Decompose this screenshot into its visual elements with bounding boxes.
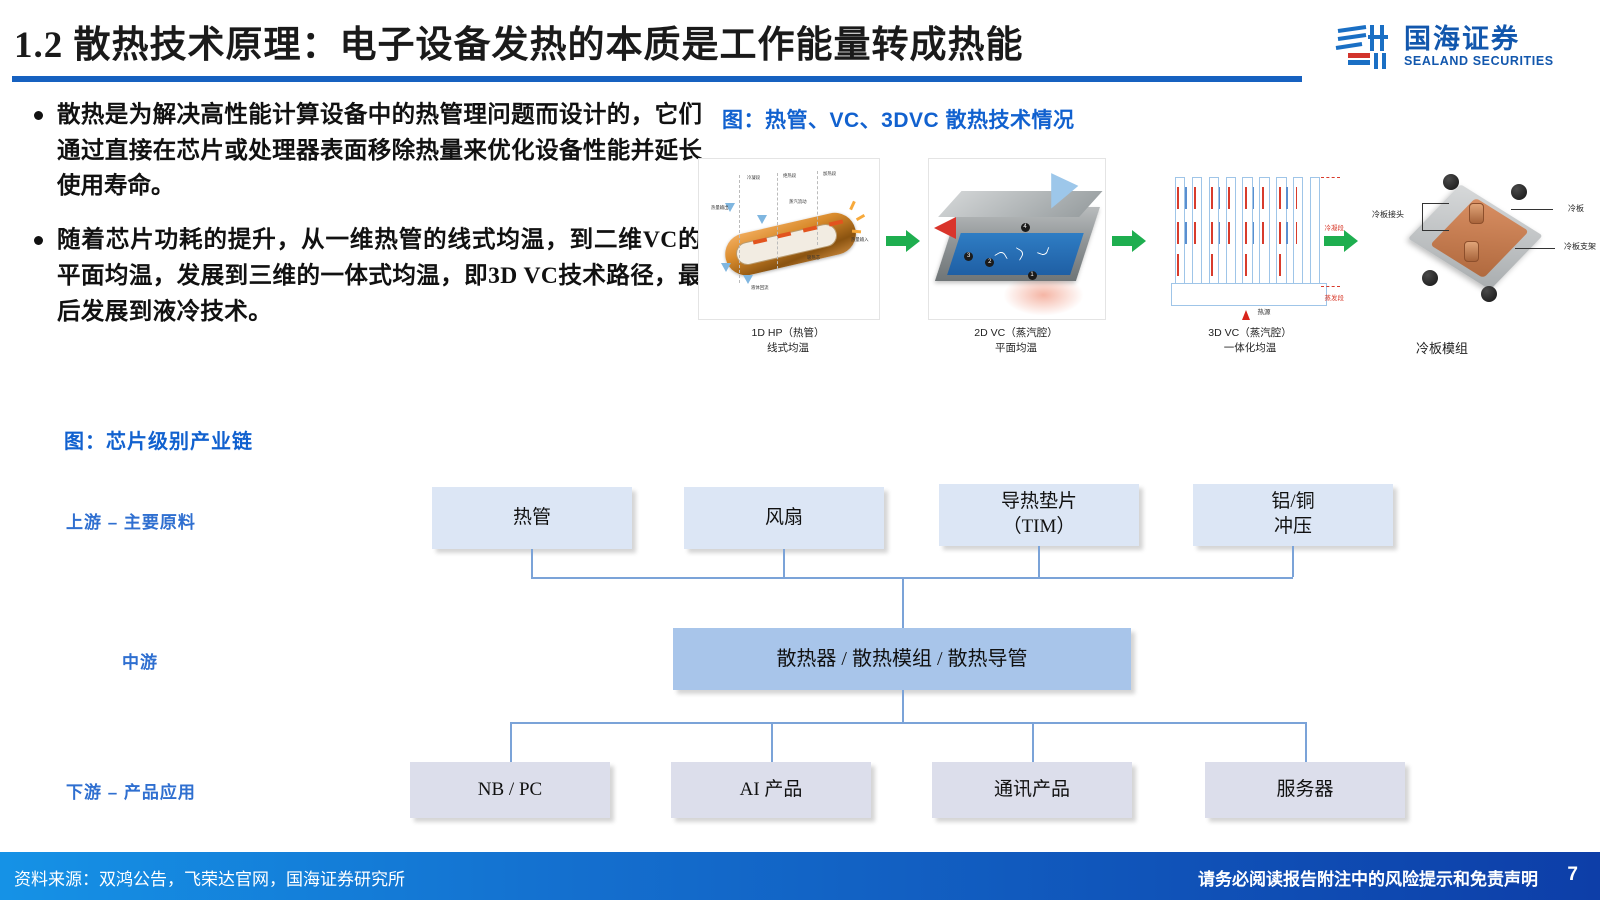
panel4-label: 冷板接头 xyxy=(1372,209,1404,220)
figure-panel-1-caption: 1D HP（热管） 线式均温 xyxy=(688,326,888,356)
node-label: 通讯产品 xyxy=(994,779,1070,800)
chain-node-upstream-fan[interactable]: 风扇 xyxy=(684,487,884,549)
condensate-down-arrow xyxy=(1219,187,1221,209)
vapor-up-arrow xyxy=(1262,222,1264,244)
vapor-up-arrow xyxy=(1177,187,1179,209)
connector-downstream-4 xyxy=(1305,722,1307,762)
node-sublabel: （TIM） xyxy=(1001,515,1077,540)
condensate-down-arrow xyxy=(1253,222,1255,244)
connector-downstream-2 xyxy=(771,722,773,762)
node-label: 服务器 xyxy=(1276,779,1333,800)
vc-evaporator-base xyxy=(1171,283,1327,306)
chain-diagram-title: 图：芯片级别产业链 xyxy=(64,425,253,454)
section-divider xyxy=(777,173,778,269)
condensate-down-arrow xyxy=(1286,187,1288,209)
panel3-label: 热源 xyxy=(1258,306,1271,316)
vapor-up-arrow xyxy=(1228,187,1230,209)
sealand-logo-icon xyxy=(1332,21,1394,73)
vapor-up-arrow xyxy=(1194,222,1196,244)
condenser-dash xyxy=(1321,177,1340,178)
vapor-up-arrow xyxy=(1296,222,1298,244)
condensate-down-arrow xyxy=(1185,187,1187,209)
vapor-up-arrow xyxy=(1245,254,1247,276)
caption-line: 3D VC（蒸汽腔） xyxy=(1150,326,1350,341)
condensate-down-arrow xyxy=(1219,222,1221,244)
connector-upstream-1 xyxy=(531,549,533,577)
title-underline xyxy=(12,76,1302,82)
mount-screw xyxy=(1511,184,1527,200)
vapor-up-arrow xyxy=(1211,222,1213,244)
caption-line: 2D VC（蒸汽腔） xyxy=(916,326,1116,341)
thermal-tech-figure: 冷凝段 绝热段 加热段 蒸汽流动 热量输出 热量输入 吸热芯 液体回流 1D H… xyxy=(690,158,1590,368)
figure-panel-3d-vc: 冷凝段 蒸发段 热源 xyxy=(1156,158,1344,318)
vc-fin xyxy=(1175,177,1185,284)
cold-plate-port xyxy=(1469,203,1484,224)
company-logo: 国海证券 SEALAND SECURITIES xyxy=(1332,16,1582,78)
condensate-down-arrow xyxy=(1286,222,1288,244)
bullet-list: 散热是为解决高性能计算设备中的热管理问题而设计的，它们通过直接在芯片或处理器表面… xyxy=(22,98,702,348)
connector-upstream-bus xyxy=(531,577,1293,579)
chain-node-downstream-comm[interactable]: 通讯产品 xyxy=(932,762,1132,818)
vapor-up-arrow xyxy=(1211,254,1213,276)
callout-line xyxy=(1515,248,1555,249)
section-divider xyxy=(739,175,740,283)
callout-line xyxy=(1511,209,1553,210)
flow-arrow-icon xyxy=(1112,230,1146,252)
section-divider xyxy=(817,171,818,245)
connector-downstream-3 xyxy=(1032,722,1034,762)
vapor-up-arrow xyxy=(1211,187,1213,209)
vapor-up-arrow xyxy=(1245,187,1247,209)
panel1-label: 液体回流 xyxy=(751,285,769,291)
tier-label-downstream: 下游 – 产品应用 xyxy=(66,778,196,803)
vapor-up-arrow xyxy=(1177,254,1179,276)
vc-fin xyxy=(1192,177,1202,284)
vc-fin xyxy=(1209,177,1219,284)
heat-out-arrow xyxy=(934,217,956,239)
panel1-label: 吸热芯 xyxy=(807,255,820,261)
chain-node-downstream-ai[interactable]: AI 产品 xyxy=(671,762,871,818)
bullet-item: 散热是为解决高性能计算设备中的热管理问题而设计的，它们通过直接在芯片或处理器表面… xyxy=(22,98,702,205)
connector-upstream-3 xyxy=(1038,546,1040,577)
tier-label-upstream: 上游 – 主要原料 xyxy=(66,508,196,533)
flow-arrow-icon xyxy=(886,230,920,252)
mount-screw xyxy=(1422,270,1438,286)
node-label: 铝/铜 xyxy=(1271,490,1314,515)
figure-panel-2d-vc: 1 2 3 4 xyxy=(928,158,1106,320)
connector-downstream-bus xyxy=(510,722,1306,724)
panel4-label: 冷板 xyxy=(1568,203,1584,214)
fin-array: 冷凝段 蒸发段 热源 xyxy=(1156,158,1344,318)
vapor-up-arrow xyxy=(1262,187,1264,209)
vc-fin xyxy=(1226,177,1236,284)
footer-source: 资料来源：双鸿公告，飞荣达官网，国海证券研究所 xyxy=(14,865,405,890)
mount-screw xyxy=(1481,286,1497,302)
bullet-dot-icon xyxy=(34,111,43,120)
vapor-up-arrow xyxy=(1279,222,1281,244)
chain-node-downstream-nbpc[interactable]: NB / PC xyxy=(410,762,610,818)
logo-name-cn: 国海证券 xyxy=(1404,25,1554,53)
slide-header: 1.2 散热技术原理：电子设备发热的本质是工作能量转成热能 xyxy=(0,0,1600,88)
vapor-up-arrow xyxy=(1194,187,1196,209)
caption-line: 一体化均温 xyxy=(1150,341,1350,356)
node-label: 风扇 xyxy=(765,507,803,528)
flow-arrow-icon xyxy=(1324,230,1358,252)
condensate-down-arrow xyxy=(1253,187,1255,209)
panel3-label: 蒸发段 xyxy=(1325,292,1345,302)
logo-name-en: SEALAND SECURITIES xyxy=(1404,54,1554,69)
node-label: 热管 xyxy=(513,507,551,528)
vc-fin xyxy=(1242,177,1252,284)
caption-line: 线式均温 xyxy=(688,341,888,356)
vapor-chamber-top xyxy=(939,191,1103,217)
heat-source-arrow-icon xyxy=(1242,310,1250,320)
panel1-label: 绝热段 xyxy=(783,173,796,179)
caption-line: 1D HP（热管） xyxy=(688,326,888,341)
connector-mid-drop xyxy=(902,690,904,722)
slide-root: 1.2 散热技术原理：电子设备发热的本质是工作能量转成热能 xyxy=(0,0,1600,900)
tier-label-midstream: 中游 xyxy=(122,648,158,673)
evaporator-dash xyxy=(1321,286,1340,287)
panel1-label: 加热段 xyxy=(823,171,836,177)
condensate-down-arrow xyxy=(1185,222,1187,244)
vc-fin xyxy=(1259,177,1269,284)
bullet-text: 随着芯片功耗的提升，从一维热管的线式均温，到二维VC的平面均温，发展到三维的一体… xyxy=(57,223,702,330)
vapor-up-arrow xyxy=(1177,222,1179,244)
connector-upstream-to-mid xyxy=(902,577,904,628)
condensate-arrow xyxy=(743,275,753,284)
chain-node-midstream[interactable]: 散热器 / 散热模组 / 散热导管 xyxy=(673,628,1131,690)
callout-bracket xyxy=(1422,203,1449,231)
node-label: 导热垫片 xyxy=(1001,490,1077,515)
vc-fin xyxy=(1310,177,1320,284)
page-title: 1.2 散热技术原理：电子设备发热的本质是工作能量转成热能 xyxy=(14,14,1024,68)
caption-line: 冷板模组 xyxy=(1342,340,1542,359)
vapor-up-arrow xyxy=(1279,254,1281,276)
logo-text-block: 国海证券 SEALAND SECURITIES xyxy=(1404,25,1554,68)
cold-plate-port xyxy=(1464,241,1479,262)
panel1-label: 冷凝段 xyxy=(747,175,760,181)
panel4-label: 冷板支架 xyxy=(1564,241,1596,252)
caption-line: 平面均温 xyxy=(916,341,1116,356)
vapor-up-arrow xyxy=(1279,187,1281,209)
vapor-up-arrow xyxy=(1228,222,1230,244)
condensate-arrow xyxy=(721,263,731,272)
heat-input-spark xyxy=(849,201,856,210)
panel2-marker: 4 xyxy=(1021,223,1030,232)
bullet-item: 随着芯片功耗的提升，从一维热管的线式均温，到二维VC的平面均温，发展到三维的一体… xyxy=(22,223,702,330)
connector-upstream-2 xyxy=(783,549,785,577)
condensate-arrow xyxy=(757,215,767,224)
vapor-up-arrow xyxy=(1245,222,1247,244)
connector-upstream-4 xyxy=(1292,546,1294,577)
node-label: AI 产品 xyxy=(740,779,803,800)
node-sublabel: 冲压 xyxy=(1271,515,1314,540)
panel1-label: 热量输出 xyxy=(711,205,729,211)
panel2-marker: 3 xyxy=(964,252,973,261)
node-label: NB / PC xyxy=(478,779,542,800)
node-label: 散热器 / 散热模组 / 散热导管 xyxy=(776,648,1027,670)
chain-node-upstream-stamping[interactable]: 铝/铜 冲压 xyxy=(1193,484,1393,546)
chain-node-upstream-tim[interactable]: 导热垫片 （TIM） xyxy=(939,484,1139,546)
panel1-label: 热量输入 xyxy=(851,237,869,243)
vc-fin xyxy=(1293,177,1303,284)
chain-node-downstream-server[interactable]: 服务器 xyxy=(1205,762,1405,818)
connector-downstream-1 xyxy=(510,722,512,762)
bullet-dot-icon xyxy=(34,236,43,245)
figure-panel-4-caption: 冷板模组 xyxy=(1342,340,1542,359)
heat-input-spark xyxy=(856,214,865,221)
panel2-marker: 1 xyxy=(1028,271,1037,280)
footer-disclaimer: 请务必阅读报告附注中的风险提示和免责声明 xyxy=(1198,865,1538,890)
slide-footer: 资料来源：双鸿公告，飞荣达官网，国海证券研究所 请务必阅读报告附注中的风险提示和… xyxy=(0,852,1600,900)
vapor-up-arrow xyxy=(1296,187,1298,209)
panel1-label: 蒸汽流动 xyxy=(789,199,807,205)
figure-panel-2-caption: 2D VC（蒸汽腔） 平面均温 xyxy=(916,326,1116,356)
figure-panel-cold-plate: 冷板接头 冷板 冷板支架 xyxy=(1372,158,1582,318)
chain-node-upstream-heatpipe[interactable]: 热管 xyxy=(432,487,632,549)
figure-panel-3-caption: 3D VC（蒸汽腔） 一体化均温 xyxy=(1150,326,1350,356)
figure-title: 图：热管、VC、3DVC 散热技术情况 xyxy=(722,104,1075,134)
vc-fin xyxy=(1276,177,1286,284)
bullet-text: 散热是为解决高性能计算设备中的热管理问题而设计的，它们通过直接在芯片或处理器表面… xyxy=(57,98,702,205)
figure-panel-1d-hp: 冷凝段 绝热段 加热段 蒸汽流动 热量输出 热量输入 吸热芯 液体回流 xyxy=(698,158,880,320)
footer-page-number: 7 xyxy=(1567,864,1578,886)
